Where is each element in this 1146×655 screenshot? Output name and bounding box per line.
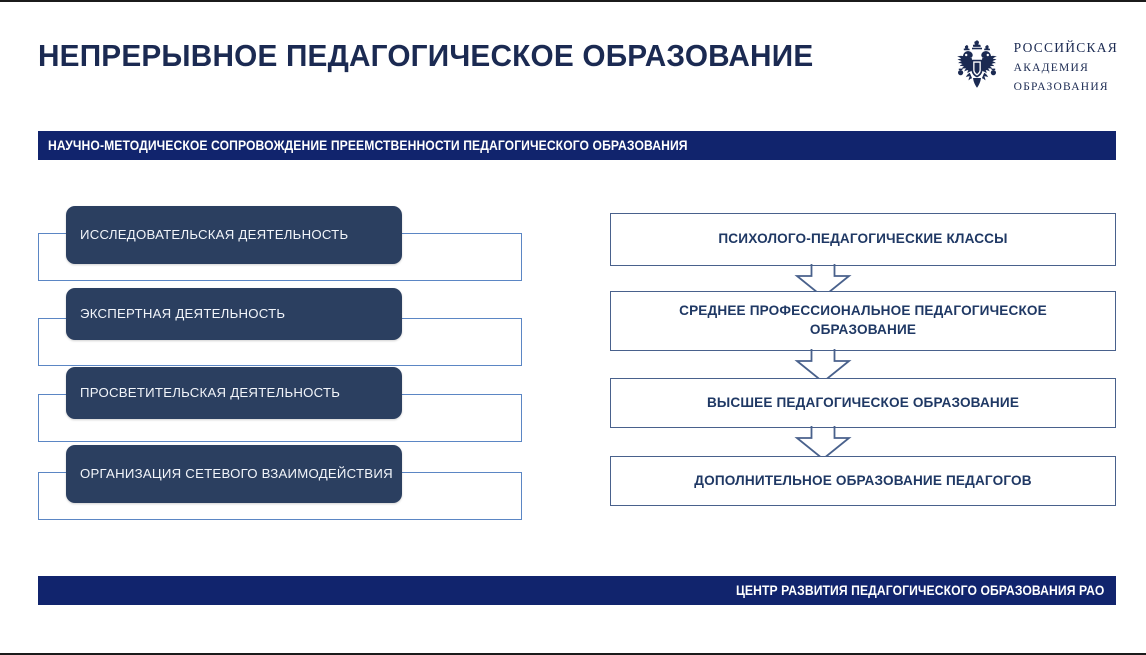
slide-canvas: НЕПРЕРЫВНОЕ ПЕДАГОГИЧЕСКОЕ ОБРАЗОВАНИЕ	[0, 0, 1146, 655]
flow-step-1[interactable]: ПСИХОЛОГО-ПЕДАГОГИЧЕСКИЕ КЛАССЫ	[610, 213, 1116, 266]
flow-step-3[interactable]: ВЫСШЕЕ ПЕДАГОГИЧЕСКОЕ ОБРАЗОВАНИЕ	[610, 378, 1116, 428]
flow-step-4[interactable]: ДОПОЛНИТЕЛЬНОЕ ОБРАЗОВАНИЕ ПЕДАГОГОВ	[610, 456, 1116, 506]
flow-step-2[interactable]: СРЕДНЕЕ ПРОФЕССИОНАЛЬНОЕ ПЕДАГОГИЧЕСКОЕ …	[610, 291, 1116, 351]
footer-bar: ЦЕНТР РАЗВИТИЯ ПЕДАГОГИЧЕСКОГО ОБРАЗОВАН…	[38, 576, 1116, 605]
right-column-flow: ПСИХОЛОГО-ПЕДАГОГИЧЕСКИЕ КЛАССЫ СРЕДНЕЕ …	[0, 0, 1146, 655]
footer-bar-label: ЦЕНТР РАЗВИТИЯ ПЕДАГОГИЧЕСКОГО ОБРАЗОВАН…	[736, 583, 1104, 598]
